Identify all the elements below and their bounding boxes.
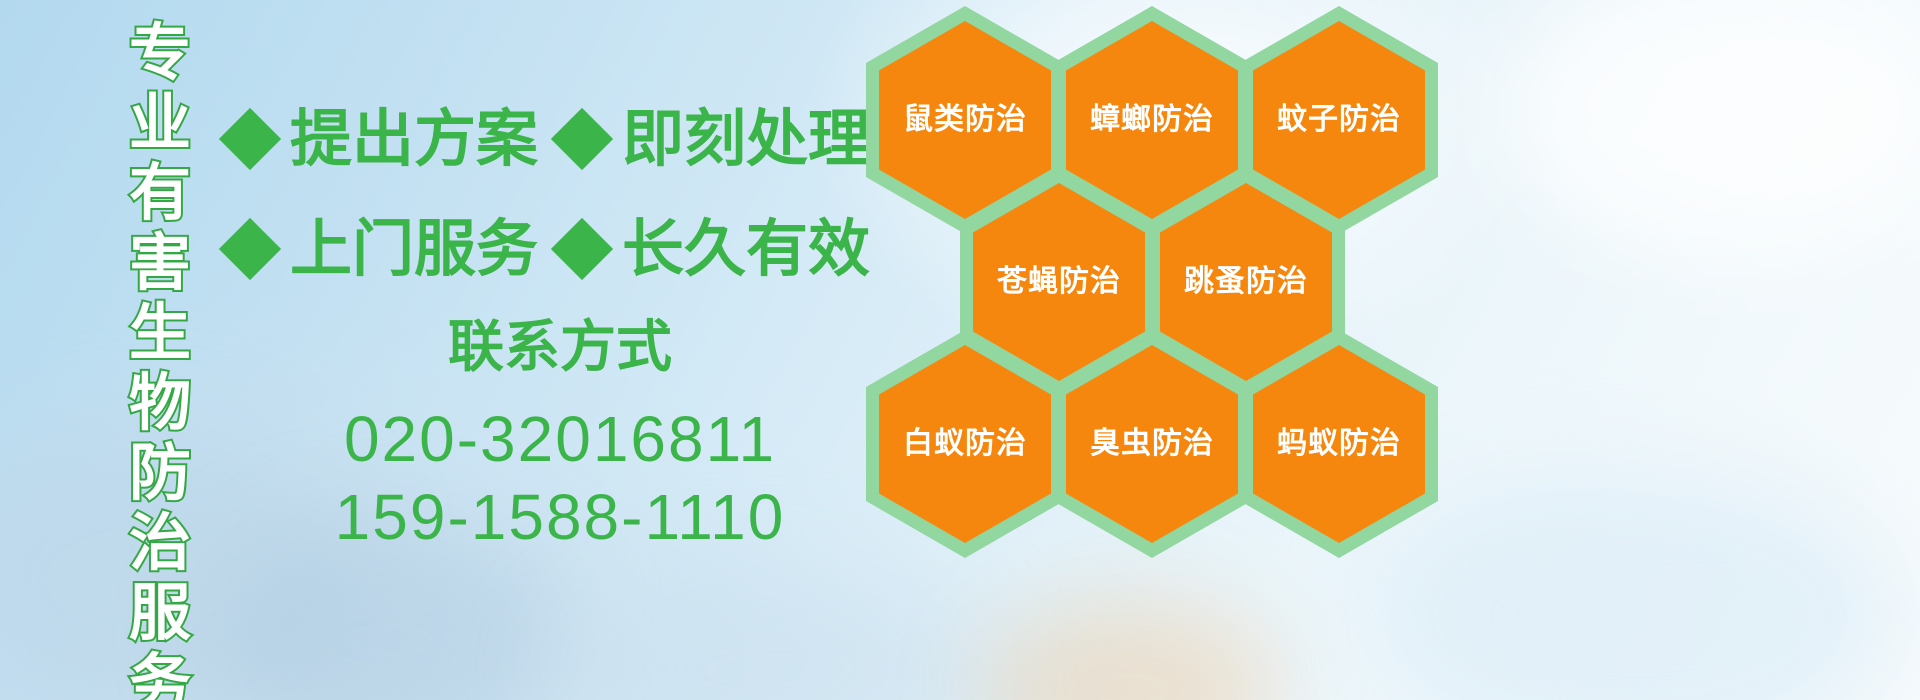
vertical-headline-char: 专 [129,18,191,88]
service-hexagon-label: 苍蝇防治 [997,265,1121,299]
diamond-icon [551,108,613,170]
service-hexagon-label: 蚊子防治 [1277,103,1401,137]
feature-row: 提出方案 即刻处理 [228,84,868,194]
vertical-headline-char: 防 [129,438,191,508]
pest-control-banner: 专 业 有 害 生 物 防 治 服 务 提出方案 即刻处理 上门服务 [0,0,1920,700]
service-hexagon-bedbug[interactable]: 臭虫防治 [1053,330,1251,558]
service-hexagon-termite[interactable]: 白蚁防治 [866,330,1064,558]
vertical-headline-char: 服 [129,578,191,648]
feature-item: 提出方案 [228,108,538,170]
phone-number-mobile[interactable]: 159-1588-1110 [300,478,820,556]
vertical-headline-char: 业 [129,88,191,158]
contact-heading: 联系方式 [300,312,820,384]
feature-label: 提出方案 [290,108,538,170]
service-hexagon-label: 跳蚤防治 [1184,265,1308,299]
contact-block: 联系方式 020-32016811 159-1588-1110 [300,312,820,556]
feature-list: 提出方案 即刻处理 上门服务 长久有效 [228,84,868,304]
background-blur-blob [980,600,1280,700]
diamond-icon [219,108,281,170]
service-hexagon-grid: 鼠类防治 蟑螂防治 蚊子防治 苍蝇防治 跳蚤防治 [866,6,1466,554]
vertical-headline-char: 害 [129,228,191,298]
service-hexagon-ant[interactable]: 蚂蚁防治 [1240,330,1438,558]
vertical-headline-char: 有 [129,158,191,228]
service-hexagon-label: 蟑螂防治 [1090,103,1214,137]
vertical-headline-char: 治 [129,508,191,578]
feature-label: 上门服务 [290,218,538,280]
feature-label: 长久有效 [622,218,870,280]
vertical-headline: 专 业 有 害 生 物 防 治 服 务 [112,18,208,678]
background-blur-blob [560,560,980,700]
service-hexagon-label: 鼠类防治 [903,103,1027,137]
feature-row: 上门服务 长久有效 [228,194,868,304]
vertical-headline-char: 物 [129,368,191,438]
service-hexagon-label: 白蚁防治 [903,427,1027,461]
service-hexagon-label: 蚂蚁防治 [1277,427,1401,461]
phone-number-landline[interactable]: 020-32016811 [300,400,820,478]
vertical-headline-char: 务 [129,648,191,700]
background-blur-blob [1500,0,1920,260]
vertical-headline-char: 生 [129,298,191,368]
feature-item: 即刻处理 [560,108,870,170]
feature-label: 即刻处理 [622,108,870,170]
diamond-icon [551,218,613,280]
feature-item: 长久有效 [560,218,870,280]
feature-item: 上门服务 [228,218,538,280]
service-hexagon-label: 臭虫防治 [1090,427,1214,461]
diamond-icon [219,218,281,280]
